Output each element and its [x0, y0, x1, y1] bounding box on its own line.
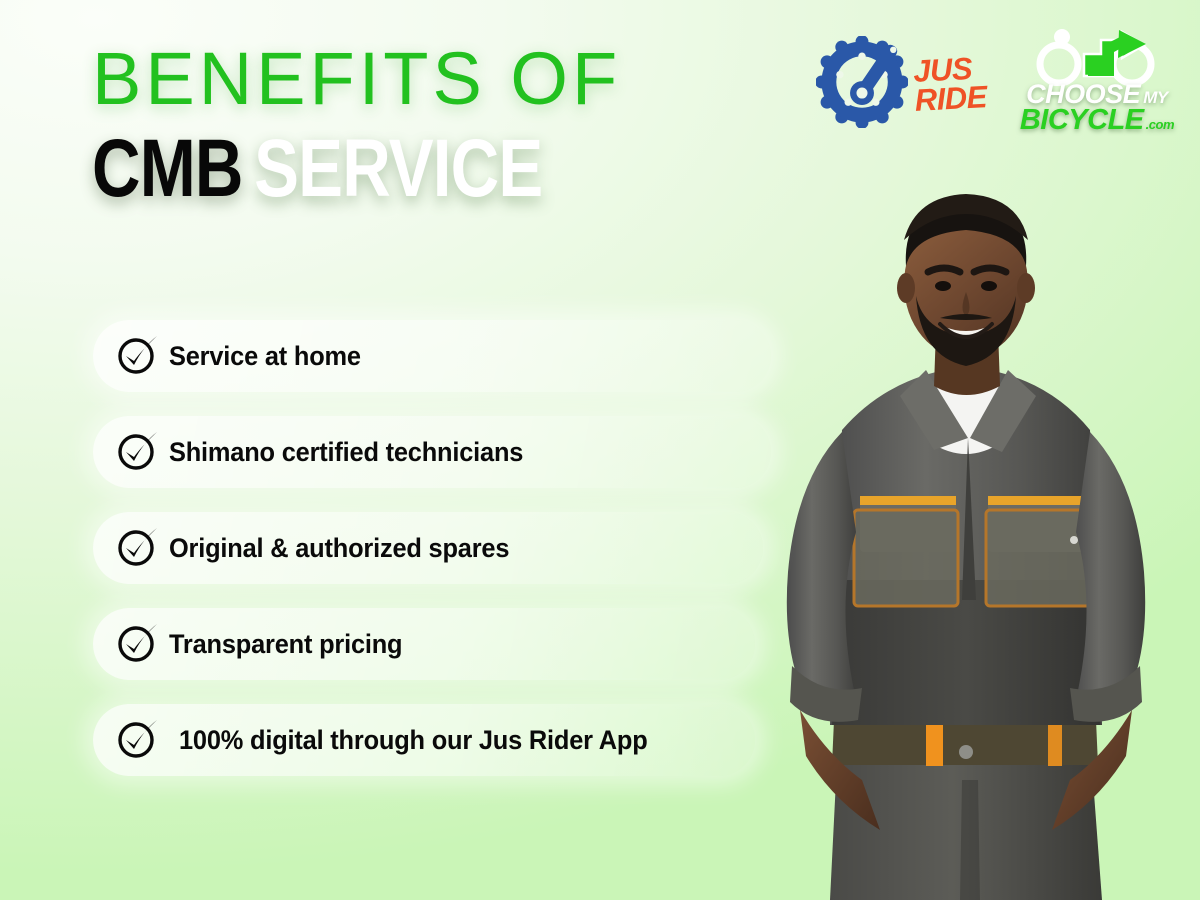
benefit-label: Shimano certified technicians — [169, 437, 523, 468]
benefit-label: 100% digital through our Jus Rider App — [179, 725, 648, 756]
jus-ride-wordmark: JUS RIDE — [912, 54, 987, 115]
check-circle-icon — [115, 331, 161, 377]
check-circle-icon — [115, 715, 161, 761]
headline-line-2: CMBSERVICE — [92, 130, 600, 208]
benefit-label: Original & authorized spares — [169, 533, 509, 564]
poster-canvas: BENEFITS OF CMBSERVICE — [0, 0, 1200, 900]
benefit-item-shimano-certified-technicians[interactable]: Shimano certified technicians — [93, 416, 771, 488]
choosemybicycle-wordmark: CHOOSE MY BICYCLE .com — [1020, 82, 1174, 134]
technician-photo — [730, 180, 1200, 900]
benefit-item-100-percent-digital[interactable]: 100% digital through our Jus Rider App — [93, 704, 755, 776]
headline-line-1: BENEFITS OF — [92, 44, 712, 114]
choosemybicycle-logo[interactable]: CHOOSE MY BICYCLE .com — [1020, 28, 1174, 134]
check-circle-icon — [115, 619, 161, 665]
benefit-label: Service at home — [169, 341, 361, 372]
jus-ride-logo[interactable]: JUS RIDE — [816, 28, 986, 133]
logo-row: JUS RIDE — [816, 28, 1174, 134]
check-circle-icon — [115, 523, 161, 569]
headline-block: BENEFITS OF CMBSERVICE — [92, 44, 712, 208]
headline-service: SERVICE — [254, 123, 542, 214]
headline-cmb: CMB — [92, 123, 243, 214]
cmb-bicycle-text: BICYCLE — [1020, 107, 1144, 134]
cmb-my-text: MY — [1143, 90, 1168, 106]
check-circle-icon — [115, 427, 161, 473]
chainring-crank-icon — [816, 36, 908, 133]
bicycle-arrow-icon — [1026, 28, 1168, 80]
jus-ride-word-2: RIDE — [914, 83, 987, 115]
benefit-label: Transparent pricing — [169, 629, 402, 660]
benefits-list: Service at home Shimano certified techni… — [93, 320, 771, 776]
benefit-item-transparent-pricing[interactable]: Transparent pricing — [93, 608, 755, 680]
cmb-line-2: BICYCLE .com — [1020, 107, 1174, 134]
benefit-item-original-authorized-spares[interactable]: Original & authorized spares — [93, 512, 763, 584]
benefit-item-service-at-home[interactable]: Service at home — [93, 320, 771, 392]
cmb-dotcom-text: .com — [1146, 119, 1174, 131]
